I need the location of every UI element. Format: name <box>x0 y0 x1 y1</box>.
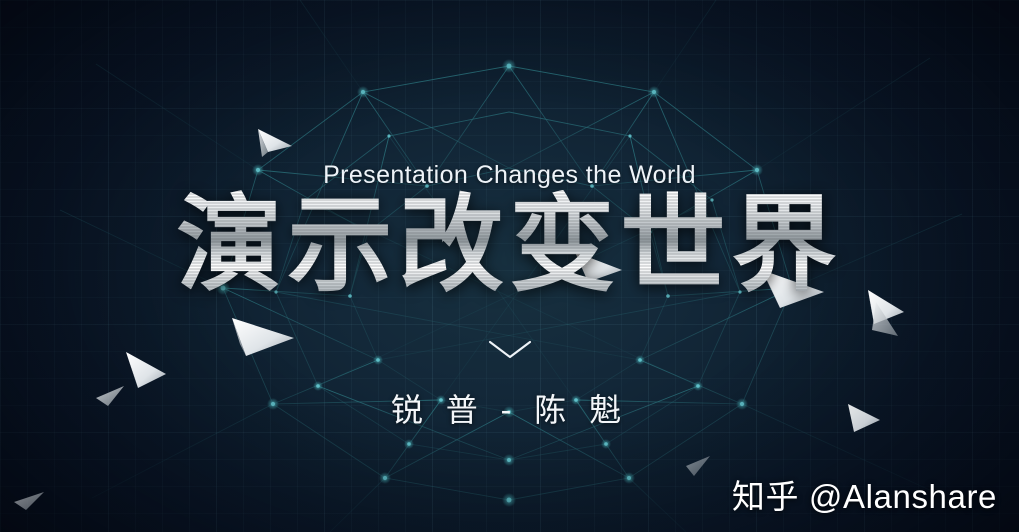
divider <box>0 338 1019 362</box>
presentation-slide: Presentation Changes the World 演示改变世界 锐 … <box>0 0 1019 532</box>
watermark: 知乎 @Alanshare <box>732 470 997 518</box>
chevron-down-icon <box>487 338 533 362</box>
slide-byline: 锐 普 - 陈 魁 <box>0 385 1019 431</box>
slide-content: Presentation Changes the World 演示改变世界 锐 … <box>0 0 1019 532</box>
slide-main-title: 演示改变世界 <box>0 190 1019 300</box>
